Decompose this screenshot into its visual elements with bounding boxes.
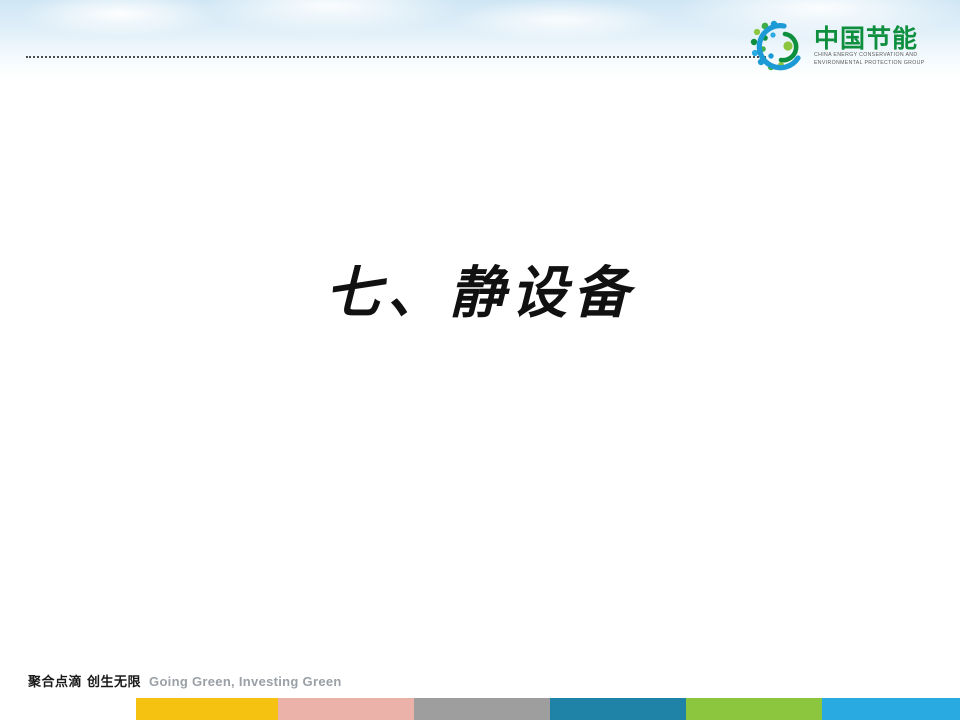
footer-color-segment-gray bbox=[414, 698, 550, 720]
footer-slogan: 聚合点滴 创生无限 Going Green, Investing Green bbox=[28, 671, 342, 690]
brand-name-en-line2: ENVIRONMENTAL PROTECTION GROUP bbox=[814, 61, 925, 66]
brand-name-cn: 中国节能 bbox=[814, 26, 925, 51]
footer-color-segment-teal bbox=[550, 698, 686, 720]
header-dotted-rule bbox=[26, 56, 766, 58]
brand-name-en-line1: CHINA ENERGY CONSERVATION AND bbox=[814, 53, 925, 58]
footer-color-segment-salmon bbox=[278, 698, 414, 720]
footer-slogan-en: Going Green, Investing Green bbox=[149, 674, 342, 689]
footer-slogan-cn: 聚合点滴 创生无限 bbox=[28, 671, 141, 690]
footer-color-bar bbox=[0, 698, 960, 720]
footer-color-segment-white bbox=[0, 698, 136, 720]
slide-canvas: 中国节能 CHINA ENERGY CONSERVATION AND ENVIR… bbox=[0, 0, 960, 720]
footer-color-segment-blue bbox=[822, 698, 960, 720]
cecep-circular-dots-logo-icon bbox=[748, 20, 806, 72]
footer-color-segment-green bbox=[686, 698, 822, 720]
footer-color-segment-yellow bbox=[136, 698, 278, 720]
page-title: 七、静设备 bbox=[0, 248, 960, 329]
brand-logo-text: 中国节能 CHINA ENERGY CONSERVATION AND ENVIR… bbox=[814, 26, 925, 65]
brand-logo: 中国节能 CHINA ENERGY CONSERVATION AND ENVIR… bbox=[748, 18, 938, 74]
